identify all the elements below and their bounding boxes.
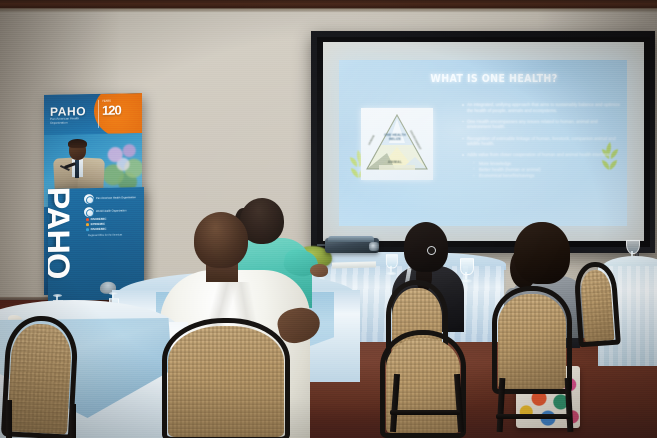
slide-bullet: An integrated, unifying approach that ai… [461,102,621,113]
triangle-bottom-label: ANIMAL [375,160,415,164]
podium-taglines: PANDEMIC EPIDEMIC PANDEMIC [86,217,138,233]
banquet-chair [1,314,79,438]
chair-leg [70,404,76,438]
podium-org-line: World Health Organization [96,210,126,214]
presentation-slide: WHAT IS ONE HEALTH? ONE HEALTH B [339,60,627,226]
projector-top-panel [328,236,374,242]
chair-rail [390,410,460,415]
banquet-chair [162,318,290,438]
banner-divider [98,100,99,128]
tagline-bullet-icon [86,228,89,231]
one-health-triangle-diagram: ONE HEALTH BELIZE ANIMAL HUMAN ENVIRONME… [361,108,433,180]
projector-lens [369,242,379,251]
podium-tagline: PANDEMIC [91,228,107,232]
slide-bullet: Recognition of extricable linkage of hum… [461,136,621,147]
podium-org-line: Pan American Health Organization [96,197,136,201]
podium-footnote: Regional Office for the Americas [88,234,138,238]
triangle-center-label: ONE HEALTH BELIZE [381,134,409,142]
conference-room-photo: WHAT IS ONE HEALTH? ONE HEALTH B [0,0,657,438]
person-hair [514,222,570,284]
chair-seat-pad [7,323,73,435]
banner-brand-subtitle: Pan American Health Organization [50,117,94,125]
presenter-at-podium [50,140,114,194]
podium-tagline-row: PANDEMIC [86,227,138,231]
banquet-chair-partial [573,261,621,348]
slide-bullet-list: An integrated, unifying approach that ai… [461,102,621,180]
hair-clip-icon [427,246,436,255]
podium-tagline-row: PANDEMIC [86,217,138,221]
person-head [194,212,248,268]
slide-bullet: One Health encompasses any issues relate… [461,119,621,130]
who-emblem-icon [84,207,94,217]
chair-leg [6,400,12,438]
glass-bowl [626,240,640,254]
projector [325,236,379,256]
banner-header: PAHO Pan American Health Organization YE… [44,93,142,135]
podium-logo-row: World Health Organization [84,206,140,217]
slide-title: WHAT IS ONE HEALTH? [379,73,609,85]
screen-surface: WHAT IS ONE HEALTH? ONE HEALTH B [323,42,644,241]
podium-logo-row: Pan American Health Organization [84,193,140,204]
presenter-hair [68,139,87,148]
papers-on-table [332,261,376,268]
banner-anniversary-number: 120 [102,102,121,117]
chair-seat-pad [498,294,566,389]
tagline-bullet-icon [86,219,89,222]
paho-emblem-icon [84,194,94,204]
slide-sub-bullet-list: More knowledge Better health (human or a… [461,161,621,180]
podium-tagline-row: EPIDEMIC [86,222,138,226]
projection-screen: WHAT IS ONE HEALTH? ONE HEALTH B [311,31,655,253]
person-hair [404,222,448,272]
slide-bullet: Adds value from closer cooperation of hu… [461,152,621,158]
chair-seat-pad [168,326,284,437]
slide-sub-bullet: Economical benefits/savings [473,173,621,179]
tagline-bullet-icon [86,223,89,226]
person-hand [310,264,328,277]
podium-brand-vertical: PAHO [48,187,74,279]
chair-rail [496,414,570,419]
